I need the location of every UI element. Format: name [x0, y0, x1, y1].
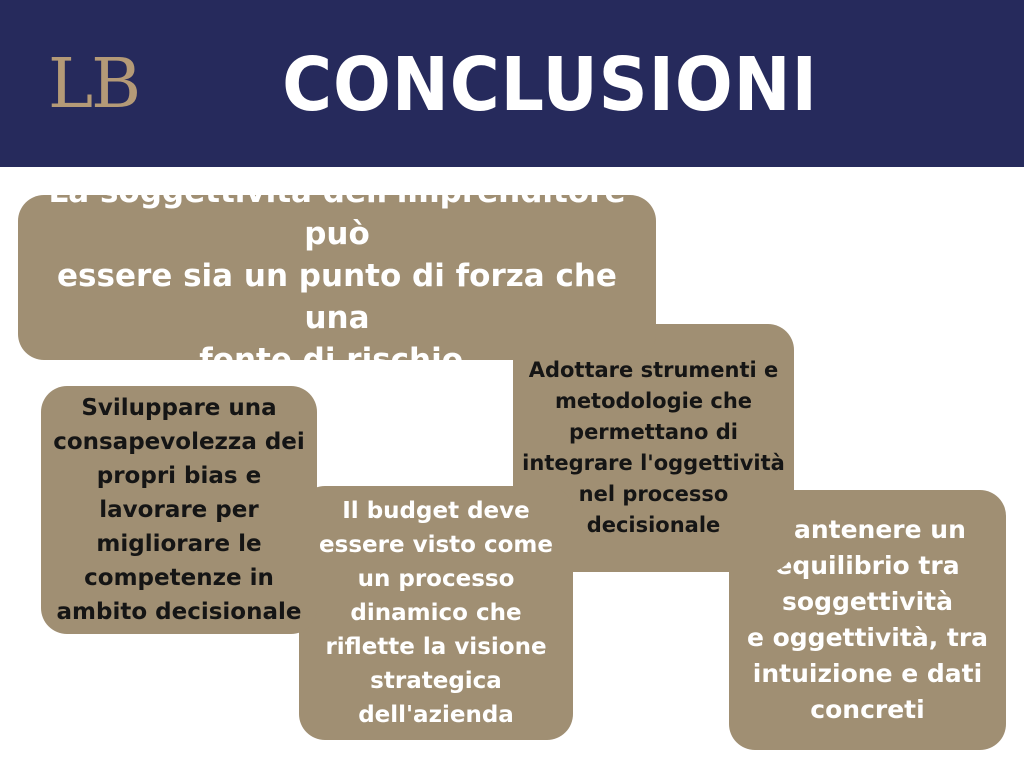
conclusion-box-2-text: Sviluppare una consapevolezza dei propri… [51, 391, 307, 629]
lb-monogram-logo-icon: LB [48, 44, 158, 126]
conclusion-box-2: Sviluppare una consapevolezza dei propri… [41, 386, 317, 634]
conclusion-box-1-text: La soggettività dell'imprenditore può es… [36, 195, 638, 360]
conclusion-box-1: La soggettività dell'imprenditore può es… [18, 195, 656, 360]
page-title: CONCLUSIONI [237, 40, 863, 130]
conclusion-box-3: Il budget deve essere visto come un proc… [299, 486, 573, 740]
presentation-slide: LB CONCLUSIONI La soggettività dell'impr… [0, 0, 1024, 768]
slide-header-band: LB CONCLUSIONI [0, 0, 1024, 167]
conclusion-box-3-text: Il budget deve essere visto come un proc… [309, 494, 563, 732]
